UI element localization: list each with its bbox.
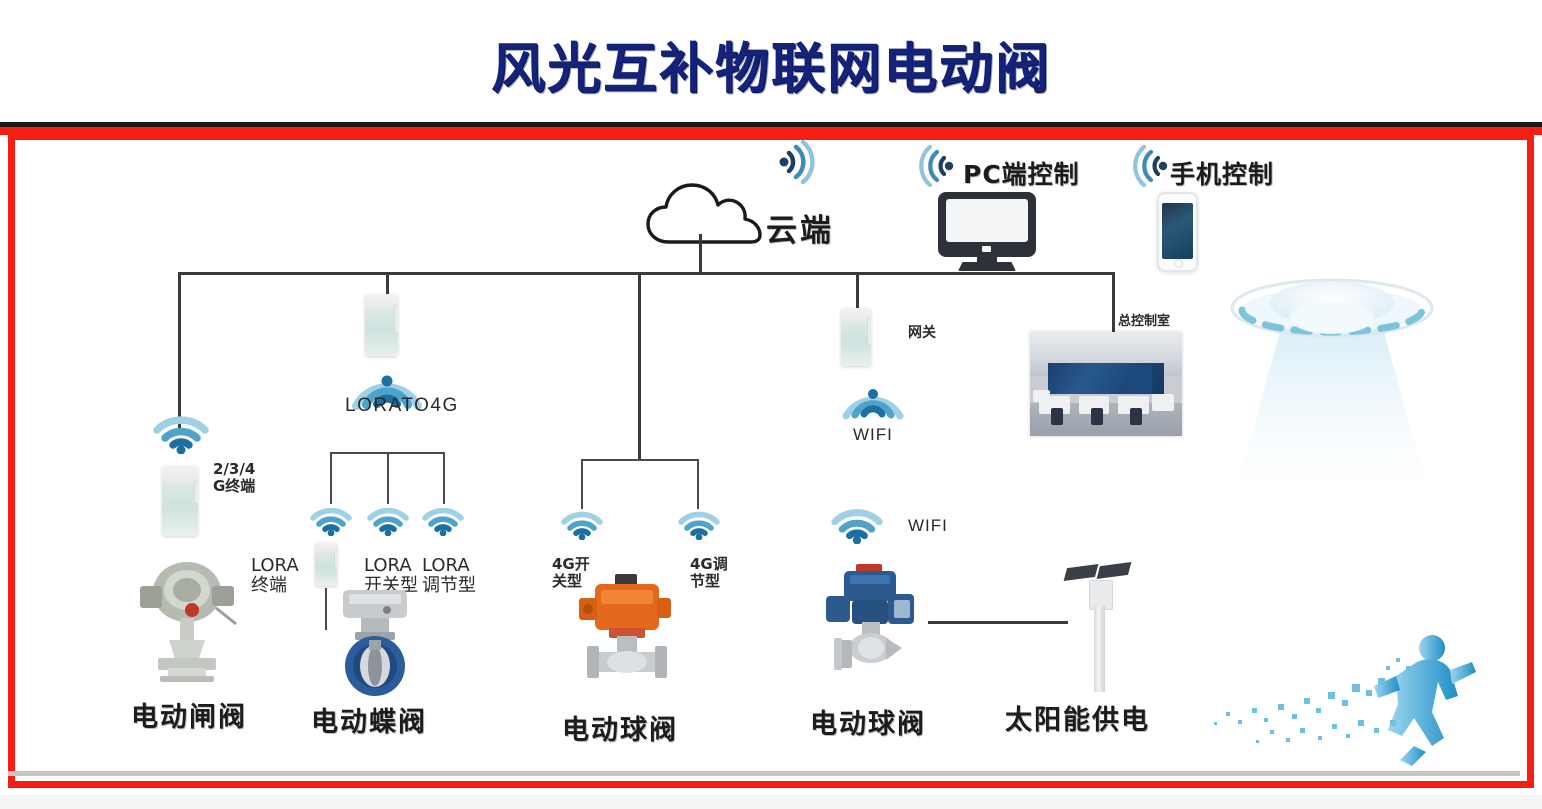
electric-butterfly-valve-icon <box>325 588 425 698</box>
mobile-control-label: 手机控制 <box>1170 155 1274 191</box>
electric-ball-valve-orange-icon <box>571 572 683 687</box>
bus-drop-loratog4 <box>386 272 389 294</box>
solar-label: 太阳能供电 <box>1005 698 1150 737</box>
fourg-branch-bar <box>581 459 699 461</box>
bus-drop-4g-group <box>638 272 641 459</box>
smartphone-icon <box>1157 192 1198 272</box>
gateway-module-icon <box>841 308 871 366</box>
valve-label-butterfly: 电动蝶阀 <box>311 700 427 739</box>
lora-terminal-wifi-icon <box>310 506 352 536</box>
page-title: 风光互补物联网电动阀 <box>0 24 1542 103</box>
bottom-strip <box>0 795 1542 809</box>
lora-branch-drop-terminal <box>330 452 332 504</box>
fourg-regulate-wifi-icon <box>678 510 720 540</box>
pixel-runner-icon <box>1200 620 1490 770</box>
lora-to-4g-label: LORATO4G <box>345 395 459 417</box>
lora-branch-drop-regulate <box>443 452 445 504</box>
gateway-wifi-arc-icon <box>842 382 904 420</box>
solar-link-line <box>928 621 1068 624</box>
signal-waves-right-icon <box>772 140 818 184</box>
valve-label-ball-blue: 电动球阀 <box>810 702 926 741</box>
electric-ball-valve-blue-icon <box>818 562 928 684</box>
fourg-branch-drop-switch <box>581 459 583 509</box>
header: 风光互补物联网电动阀 <box>0 0 1542 118</box>
valve-label-ball-orange: 电动球阀 <box>562 708 678 747</box>
terminal-2-3-4g-label: 2/3/4 G终端 <box>213 461 255 495</box>
terminal-2-3-4g-wifi-icon <box>153 414 209 454</box>
lora-terminal-label: LORA 终端 <box>251 556 299 596</box>
cloud-label: 云端 <box>766 205 834 250</box>
lora-to-4g-module-icon <box>365 294 398 356</box>
bus-drop-control-room <box>1112 272 1115 332</box>
right-wifi-icon <box>831 507 883 544</box>
fourg-switch-wifi-icon <box>561 510 603 540</box>
lora-regulate-label: LORA 调节型 <box>422 556 476 596</box>
control-room-photo <box>1030 332 1182 436</box>
lora-regulate-wifi-icon <box>422 506 464 536</box>
gateway-wifi-label: WIFI <box>853 425 893 445</box>
cloud-icon <box>645 180 763 246</box>
valve-label-gate: 电动闸阀 <box>131 695 247 734</box>
slide-root: 风光互补物联网电动阀 云端 PC端控制 手机控制 <box>0 0 1542 809</box>
cloud-stem-line <box>699 234 702 274</box>
lora-switch-wifi-icon <box>367 506 409 536</box>
bus-drop-gateway <box>856 272 859 308</box>
lora-terminal-icon <box>315 542 337 586</box>
lora-branch-drop-switch <box>387 452 389 504</box>
electric-gate-valve-icon <box>132 558 242 683</box>
control-room-label: 总控制室 <box>1118 310 1170 329</box>
bottom-gray-rule <box>8 771 1520 776</box>
main-bus-line <box>178 272 1115 275</box>
pc-control-label: PC端控制 <box>963 155 1080 191</box>
fourg-regulate-label: 4G调 节型 <box>690 556 728 590</box>
fourg-branch-drop-regulate <box>697 459 699 509</box>
terminal-2-3-4g-module-icon <box>162 466 198 536</box>
gateway-label: 网关 <box>908 322 936 342</box>
right-wifi-label: WIFI <box>908 516 948 536</box>
pc-signal-waves-left-icon <box>916 145 960 187</box>
ufo-light-beam-icon <box>1222 270 1442 530</box>
mobile-signal-waves-left-icon <box>1130 145 1174 187</box>
bus-drop-2-3-4g <box>178 272 181 430</box>
